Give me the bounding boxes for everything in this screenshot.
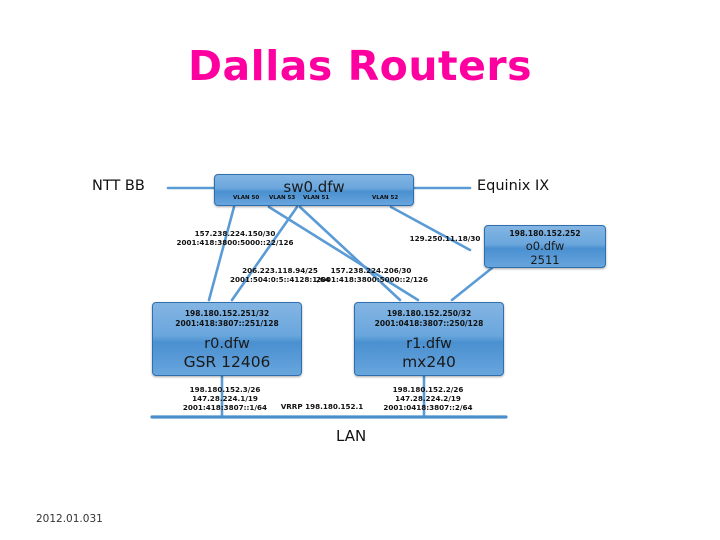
- vlan-port-row: VLAN 50 VLAN 53 VLAN 51 VLAN 52: [215, 195, 413, 204]
- node-sw0-dfw[interactable]: sw0.dfw VLAN 50 VLAN 53 VLAN 51 VLAN 52: [214, 174, 414, 206]
- link-label-ntt-r1-v6: 2001:418:3800:5000::2/126: [316, 275, 426, 284]
- label-vrrp: VRRP 198.180.152.1: [272, 402, 372, 411]
- link-vlan53-to-r1: [269, 207, 418, 300]
- link-label-ntt-uplink-v4: 157.238.224.150/30: [160, 229, 310, 238]
- page-title: Dallas Routers: [0, 42, 720, 90]
- label-equinix-ix: Equinix IX: [477, 178, 549, 194]
- label-ntt-bb: NTT BB: [92, 178, 145, 194]
- label-lan: LAN: [336, 427, 366, 445]
- link-label-ntt-uplink: 157.238.224.150/30 2001:418:3800:5000::2…: [160, 229, 310, 247]
- link-label-ntt-mgmt-v4: 129.250.11.18/30: [396, 234, 494, 243]
- node-r1-ipv6: 2001:0418:3807::250/128: [355, 319, 503, 329]
- link-label-ntt-r1-v4: 157.238.224.206/30: [316, 266, 426, 275]
- node-o0-model: 2511: [485, 253, 605, 267]
- node-r0-model: GSR 12406: [153, 353, 301, 371]
- vlan-label-53: VLAN 53: [269, 195, 295, 201]
- link-vlan50-to-r0: [209, 207, 234, 300]
- node-r1-name: r1.dfw: [355, 335, 503, 353]
- node-r0-ipv6: 2001:418:3807::251/128: [153, 319, 301, 329]
- vlan-label-51: VLAN 51: [303, 195, 329, 201]
- link-label-lan-r0-v4a: 198.180.152.3/26: [157, 385, 293, 394]
- link-label-ntt-r1: 157.238.224.206/30 2001:418:3800:5000::2…: [316, 266, 426, 284]
- link-label-lan-r1-v4a: 198.180.152.2/26: [360, 385, 496, 394]
- node-r1-model: mx240: [355, 353, 503, 371]
- vlan-label-52: VLAN 52: [372, 195, 398, 201]
- link-oob-to-r1: [452, 268, 492, 300]
- link-label-lan-r1: 198.180.152.2/26 147.28.224.2/19 2001:04…: [360, 385, 496, 412]
- node-r0-name: r0.dfw: [153, 335, 301, 353]
- link-label-ntt-mgmt: 129.250.11.18/30: [396, 234, 494, 243]
- footer-date: 2012.01.031: [36, 513, 103, 525]
- link-label-lan-r1-v6: 2001:0418:3807::2/64: [360, 403, 496, 412]
- vlan-label-50: VLAN 50: [233, 195, 259, 201]
- node-o0-ip: 198.180.152.252: [485, 229, 605, 239]
- node-r0-dfw[interactable]: 198.180.152.251/32 2001:418:3807::251/12…: [152, 302, 302, 376]
- link-vlan52-to-oob: [391, 207, 470, 250]
- node-sw0-name: sw0.dfw: [215, 175, 413, 197]
- node-r1-dfw[interactable]: 198.180.152.250/32 2001:0418:3807::250/1…: [354, 302, 504, 376]
- node-r0-ipv4: 198.180.152.251/32: [153, 309, 301, 319]
- node-r1-ipv4: 198.180.152.250/32: [355, 309, 503, 319]
- link-label-lan-r1-v4b: 147.28.224.2/19: [360, 394, 496, 403]
- link-vlan51-to-r0: [232, 207, 297, 300]
- slide-canvas: Dallas Routers NTT BB Equinix IX sw0.dfw…: [0, 0, 720, 540]
- node-o0-dfw[interactable]: 198.180.152.252 o0.dfw 2511: [484, 225, 606, 268]
- node-o0-name: o0.dfw: [485, 239, 605, 253]
- link-label-ntt-uplink-v6: 2001:418:3800:5000::22/126: [160, 238, 310, 247]
- link-switch-to-r1-alt: [300, 207, 400, 300]
